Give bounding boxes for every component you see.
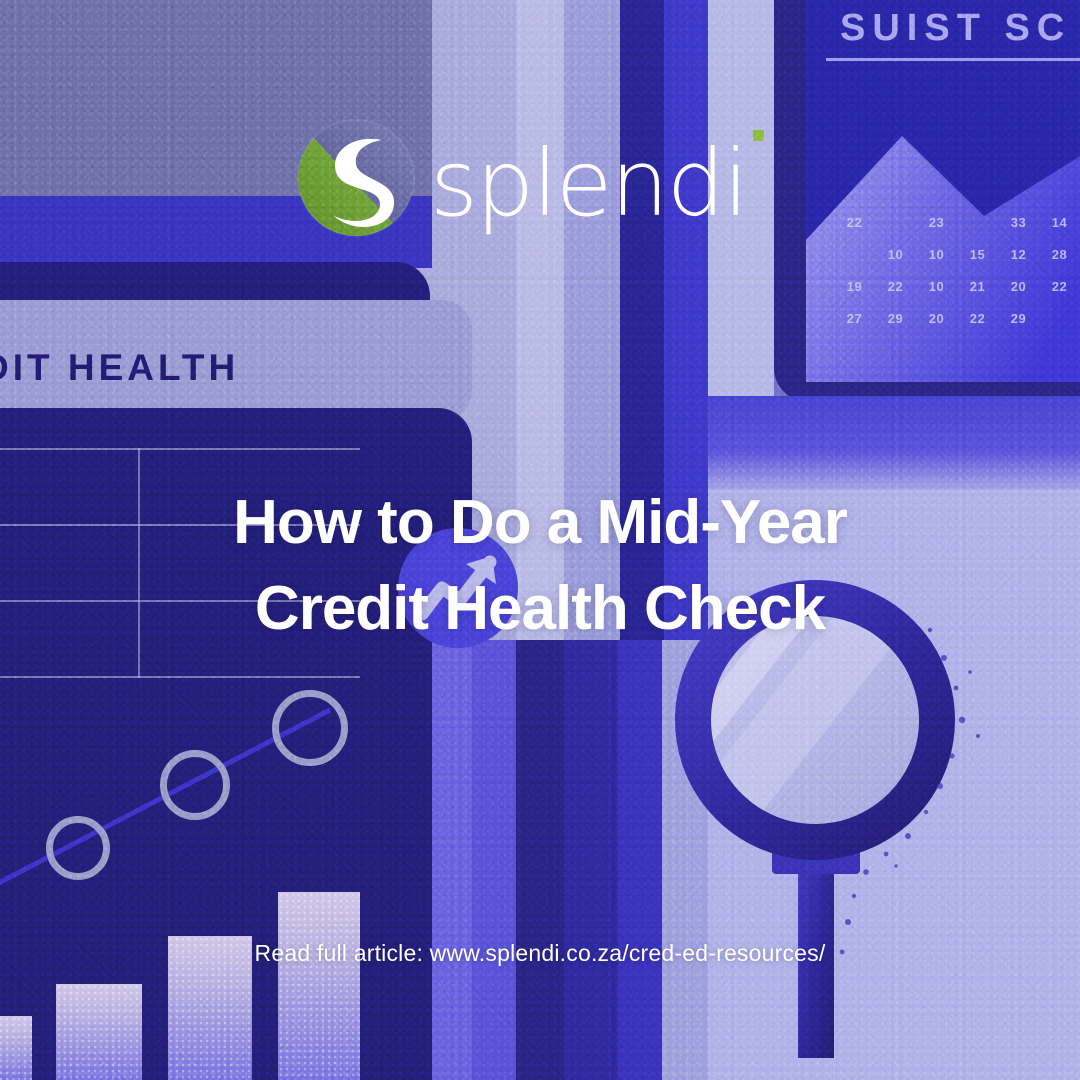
bar-4 — [278, 892, 360, 1080]
brand-wordmark: splendi — [430, 138, 747, 230]
number-cell: 21 — [957, 270, 998, 302]
number-cell: 20 — [998, 270, 1039, 302]
numbers-data-grid: 22 23 33 14 10 10 15 12 28 19 22 10 21 2… — [834, 206, 1080, 332]
number-cell: 33 — [998, 206, 1039, 238]
number-cell: 10 — [916, 238, 957, 270]
number-cell — [875, 206, 916, 238]
number-cell: 27 — [834, 302, 875, 334]
number-cell: 22 — [834, 206, 875, 238]
headline-line-2: Credit Health Check — [0, 566, 1080, 652]
article-link-text[interactable]: Read full article: www.splendi.co.za/cre… — [0, 940, 1080, 967]
number-cell: 28 — [1039, 238, 1080, 270]
number-cell — [834, 238, 875, 270]
number-cell: 10 — [916, 270, 957, 302]
bar-2 — [56, 984, 142, 1080]
panel-divider-rule — [826, 58, 1080, 61]
page-title: How to Do a Mid-Year Credit Health Check — [0, 480, 1080, 652]
brand-logo[interactable]: splendi — [296, 112, 766, 244]
brand-accent-dot — [753, 130, 764, 141]
number-cell: 29 — [998, 302, 1039, 334]
number-cell: 22 — [957, 302, 998, 334]
number-cell — [1039, 302, 1080, 334]
number-cell: 12 — [998, 238, 1039, 270]
number-cell: 29 — [875, 302, 916, 334]
trend-marker-3 — [272, 690, 348, 766]
number-cell — [957, 206, 998, 238]
number-cell: 20 — [916, 302, 957, 334]
trend-marker-2 — [160, 750, 230, 820]
number-cell: 14 — [1039, 206, 1080, 238]
headline-line-1: How to Do a Mid-Year — [0, 480, 1080, 566]
bar-1 — [0, 1016, 32, 1080]
footer-stripe-3 — [516, 640, 564, 1080]
splendi-s-circle-logo-icon — [296, 118, 416, 238]
number-cell: 22 — [875, 270, 916, 302]
footer-stripe-1 — [432, 640, 472, 1080]
footer-stripe-2 — [472, 640, 516, 1080]
credit-health-card-title: DIT HEALTH — [0, 340, 312, 396]
number-cell: 22 — [1039, 270, 1080, 302]
sustainability-score-label: SUIST SC — [840, 4, 1080, 52]
bar-chart-graphic — [0, 880, 400, 1080]
footer-stripe-4 — [564, 640, 618, 1080]
number-cell: 19 — [834, 270, 875, 302]
trend-marker-1 — [46, 816, 110, 880]
bar-chart-trendline — [0, 690, 400, 910]
social-graphic-canvas: DIT HEALTH SUIST SC 22 23 33 14 10 10 15… — [0, 0, 1080, 1080]
number-cell: 23 — [916, 206, 957, 238]
number-cell: 10 — [875, 238, 916, 270]
number-cell: 15 — [957, 238, 998, 270]
